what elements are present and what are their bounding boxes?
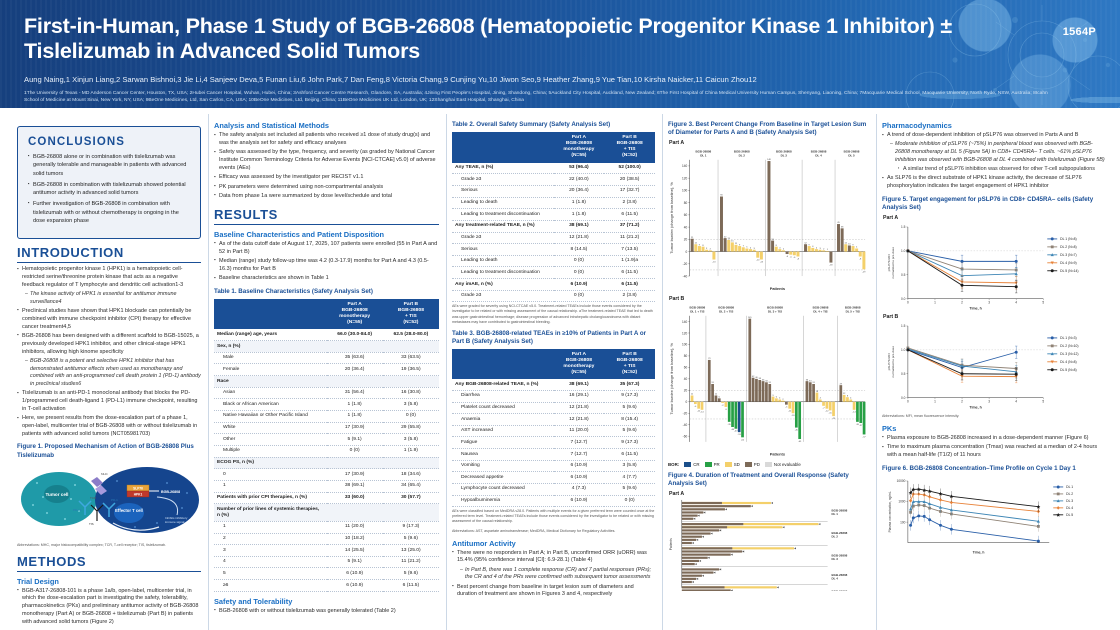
pks-list: Plasma exposure to BGB-26808 increased i…	[882, 435, 1105, 460]
svg-text:DL 5: DL 5	[848, 153, 855, 157]
table-cell-label: Vomiting	[452, 460, 554, 472]
table-cell-part-b	[383, 341, 439, 353]
svg-text:60: 60	[684, 366, 688, 370]
table-cell-part-a: 12 (21.8)	[554, 402, 605, 414]
svg-text:100: 100	[682, 343, 687, 347]
figure3-legend: BOR: CR PR SD PD Not evaluable	[668, 462, 869, 467]
svg-text:DL 3 (N=7): DL 3 (N=7)	[1060, 253, 1076, 257]
svg-text:-57: -57	[863, 436, 867, 438]
table-cell-part-a: 38 (69.1)	[554, 220, 605, 232]
table-row: Leading to death0 (0)1 (1.9)a	[452, 255, 655, 267]
table-cell-part-b: 34 (65.4)	[383, 481, 439, 493]
legend-swatch	[745, 462, 752, 467]
table-cell-part-a: 12 (21.8)	[554, 414, 605, 426]
table-cell-part-a: 12 (21.8)	[554, 232, 605, 244]
table-cell-label: Nausea	[452, 449, 554, 461]
col-a-line3: monotherapy	[339, 314, 370, 319]
waterfall-part-a-svg: Tumor burden (change from baseline), %-4…	[668, 146, 869, 294]
figure1-title: Figure 1. Proposed Mechanism of Action o…	[17, 443, 201, 459]
table-cell-part-a: 1 (1.8)	[327, 399, 383, 411]
table-cell-part-a: 14 (25.5)	[327, 545, 383, 557]
svg-text:DL 4: DL 4	[832, 576, 839, 580]
table-row: Native Hawaiian or Other Pacific Island1…	[214, 411, 439, 423]
table-header-row: Part ABGB-26808 monotherapy(N=55) Part B…	[452, 132, 655, 163]
table-cell-part-b: 3 (5.8)	[383, 434, 439, 446]
legend-label: SD	[734, 462, 740, 467]
table-cell-part-a: 22 (40.0)	[554, 174, 605, 186]
legend-item-sd: SD	[725, 462, 740, 467]
legend-item-pr: PR	[705, 462, 720, 467]
table-cell-label: Grade ≥3	[452, 290, 554, 302]
table-row: Median (range) age, years66.0 (30.0-84.0…	[214, 329, 439, 340]
antitumor-list: There were no responders in Part A; in P…	[452, 550, 655, 600]
list-item: As of the data cutoff date of August 17,…	[214, 241, 439, 257]
svg-text:Tumor burden (change from base: Tumor burden (change from baseline), %	[669, 342, 674, 414]
svg-text:31: 31	[711, 382, 714, 384]
table-row: ≥66 (10.9)6 (11.5)	[214, 580, 439, 592]
table-cell-part-b: 19 (36.5)	[383, 364, 439, 376]
table-cell-part-a: 1 (1.8)	[554, 209, 605, 221]
svg-text:11: 11	[691, 394, 694, 396]
svg-text:3: 3	[988, 300, 990, 304]
svg-text:DL 5 (N=8): DL 5 (N=8)	[1060, 368, 1076, 372]
svg-text:DL 4 (N=8): DL 4 (N=8)	[1060, 360, 1076, 364]
table-cell-part-a: 53 (96.4)	[554, 163, 605, 174]
figure1-mechanism-diagram: Tumor cell Effector T cell	[17, 463, 201, 541]
svg-text:1: 1	[934, 400, 936, 404]
table-row: ECOG PS, n (%)	[214, 457, 439, 469]
table-cell-label: Any imAE, n (%)	[452, 279, 554, 291]
svg-text:3: 3	[819, 248, 821, 250]
table-cell-part-a: 7 (12.7)	[554, 449, 605, 461]
table-cell-part-a: 6 (10.9)	[554, 460, 605, 472]
table-cell-part-b: 6 (11.5)	[604, 449, 655, 461]
table-cell-label: Anaemia	[452, 414, 554, 426]
table-cell-label: Grade ≥3	[452, 232, 554, 244]
legend-label: PD	[754, 462, 760, 467]
table-cell-part-a: 38 (69.1)	[554, 379, 605, 390]
table-row: 111 (20.0)9 (17.3)	[214, 521, 439, 533]
pdl1-label: PD-L1	[73, 508, 82, 512]
poster-root: First-in-Human, Phase 1 Study of BGB-268…	[0, 0, 1120, 630]
table-cell-part-b: 3 (5.8)	[604, 460, 655, 472]
table-cell-part-b: 8 (15.4)	[604, 414, 655, 426]
table-cell-part-b	[383, 457, 439, 469]
svg-text:BGB-26808: BGB-26808	[832, 589, 848, 591]
table-row: Grade ≥312 (21.8)11 (21.2)	[452, 232, 655, 244]
table-row: Patients with prior CPI therapies, n (%)…	[214, 492, 439, 504]
table-row: Any imAE, n (%)6 (10.9)6 (11.5)	[452, 279, 655, 291]
mechanism-svg: Tumor cell Effector T cell	[17, 463, 203, 539]
svg-text:4: 4	[1015, 300, 1017, 304]
svg-text:90: 90	[720, 195, 723, 197]
svg-text:DL 3: DL 3	[781, 153, 788, 157]
table-cell-label: 5	[214, 568, 327, 580]
figure3-part-a-chart: Tumor burden (change from baseline), %-4…	[668, 146, 869, 294]
svg-text:DL 2: DL 2	[739, 153, 746, 157]
table-cell-part-b: 0 (0)	[383, 411, 439, 423]
table-row: White17 (30.9)29 (55.8)	[214, 422, 439, 434]
list-item: Tislelizumab is an anti-PD-1 monoclonal …	[17, 390, 201, 413]
svg-text:5: 5	[1042, 400, 1044, 404]
list-item: BGB-A317-26808-101 is a phase 1a/b, open…	[17, 588, 201, 627]
svg-text:DL 5 (N=14): DL 5 (N=14)	[1060, 269, 1078, 273]
svg-text:140: 140	[682, 164, 687, 168]
svg-text:-12: -12	[788, 411, 792, 413]
table-cell-label: Leading to treatment discontinuation	[452, 209, 554, 221]
table-cell-label: AST increased	[452, 425, 554, 437]
table-cell-part-b: 5 (9.6)	[383, 533, 439, 545]
col-b-line2: BGB-26808	[398, 308, 424, 313]
list-item-text: Hematopoietic progenitor kinase 1 (HPK1)…	[22, 266, 183, 288]
table-cell-part-b: 9 (17.3)	[604, 437, 655, 449]
table-cell-part-a: 0 (0)	[327, 446, 383, 458]
svg-text:DL 4: DL 4	[815, 153, 822, 157]
list-item: Safety was assessed by the type, frequen…	[214, 149, 439, 172]
svg-text:9: 9	[809, 244, 811, 246]
svg-text:-20: -20	[683, 411, 688, 415]
table-row: Nausea7 (12.7)6 (11.5)	[452, 449, 655, 461]
table-cell-label: Serious	[452, 185, 554, 197]
col-b-line4: (N=52)	[403, 320, 418, 325]
svg-text:DL 2: DL 2	[1066, 492, 1073, 496]
legend-label: Not evaluable	[774, 462, 801, 467]
pk-profile-svg: 100100010000Plasma concentration, ng/mLT…	[882, 476, 1105, 556]
table-col-part-b: Part B BGB-26808 + TIS (N=52)	[383, 299, 439, 330]
svg-text:21: 21	[691, 237, 694, 239]
table-col-part-b: Part BBGB-26808 + TIS(N=52)	[604, 349, 655, 380]
svg-text:9: 9	[699, 244, 701, 246]
figure3-part-b-chart: Tumor burden (change from baseline), %-6…	[668, 302, 869, 460]
svg-text:4: 4	[820, 398, 822, 400]
table-row: AST increased11 (20.0)5 (9.6)	[452, 425, 655, 437]
table2-body: Any TEAE, n (%)53 (96.4)52 (100.0)Grade …	[452, 163, 655, 302]
svg-text:-53: -53	[738, 434, 742, 436]
svg-text:-4: -4	[786, 256, 789, 258]
table-cell-part-a: 5 (9.1)	[327, 434, 383, 446]
legend-item-cr: CR	[684, 462, 699, 467]
table-row: Platelet count decreased12 (21.8)5 (9.6)	[452, 402, 655, 414]
svg-text:-9: -9	[725, 409, 728, 411]
list-item: Time to maximum plasma concentration (Tm…	[882, 444, 1105, 460]
svg-text:DL 3 + TIS: DL 3 + TIS	[768, 309, 782, 313]
svg-text:10: 10	[848, 244, 851, 246]
figure5-part-a-chart: 0.00.51.01.5012345Time, hpSLP76 MFInorma…	[882, 221, 1105, 313]
table-row: Leading to treatment discontinuation0 (0…	[452, 267, 655, 279]
drug-label: BGB-26808	[161, 490, 180, 494]
table2-title: Table 2. Overall Safety Summary (Safety …	[452, 121, 655, 129]
poster-header: First-in-Human, Phase 1 Study of BGB-268…	[0, 0, 1120, 108]
pharmacodynamics-list: A trend of dose-dependent inhibition of …	[882, 132, 1105, 191]
list-item: BGB-26808 has been designed with a diffe…	[17, 333, 201, 389]
svg-text:-20: -20	[791, 415, 795, 417]
table-overall-safety-summary: Part ABGB-26808 monotherapy(N=55) Part B…	[452, 132, 655, 302]
analysis-list: The safety analysis set included all pat…	[214, 132, 439, 201]
table1-title: Table 1. Baseline Characteristics (Safet…	[214, 288, 439, 296]
conclusions-list: BGB-26808 alone or in combination with t…	[28, 153, 191, 225]
svg-text:DL 2 + TIS: DL 2 + TIS	[719, 309, 733, 313]
table-cell-part-b: 6 (11.5)	[383, 580, 439, 592]
svg-text:12: 12	[695, 243, 698, 245]
table-cell-part-b: 52 (100.0)	[604, 163, 655, 174]
svg-text:3: 3	[754, 248, 756, 250]
table-cell-part-a	[327, 376, 383, 388]
list-item: A trend of dose-dependent inhibition of …	[882, 132, 1105, 173]
trial-design-list: BGB-A317-26808-101 is a phase 1a/b, open…	[17, 588, 201, 627]
svg-text:DL 3: DL 3	[1066, 499, 1073, 503]
slp76-label: SLP76	[133, 486, 143, 490]
svg-text:5: 5	[746, 247, 748, 249]
table-cell-part-b: 2 (3.8)	[604, 290, 655, 302]
baseline-list: As of the data cutoff date of August 17,…	[214, 241, 439, 283]
svg-text:2: 2	[782, 399, 784, 401]
table-cell-part-a: 8 (14.5)	[554, 244, 605, 256]
table-cell-label: Asian	[214, 387, 327, 399]
t-cell-nucleus	[114, 503, 144, 523]
table-cell-label: Median (range) age, years	[214, 329, 327, 340]
table-cell-label: Decreased appetite	[452, 472, 554, 484]
svg-text:80: 80	[684, 354, 688, 358]
svg-text:2: 2	[961, 400, 963, 404]
pharmacodynamics-heading: Pharmacodynamics	[882, 121, 1105, 130]
list-item: Hematopoietic progenitor kinase 1 (HPK1)…	[17, 266, 201, 306]
svg-text:7: 7	[743, 246, 745, 248]
svg-text:DL 1: DL 1	[832, 512, 839, 516]
table-cell-part-b: 62.5 (28.0-80.0)	[383, 329, 439, 340]
svg-text:4: 4	[750, 247, 752, 249]
svg-text:-37: -37	[859, 425, 863, 427]
table-row: Leading to death1 (1.8)2 (3.8)	[452, 197, 655, 209]
list-item-text: BGB-26808 has been designed with a diffe…	[22, 333, 199, 355]
svg-text:0: 0	[685, 400, 687, 404]
analysis-heading: Analysis and Statistical Methods	[214, 121, 439, 130]
svg-text:31: 31	[769, 382, 772, 384]
mhc-label: MHC	[101, 472, 109, 476]
svg-text:60: 60	[684, 213, 688, 217]
list-item: BGB-26808 with or without tislelizumab w…	[214, 608, 439, 616]
svg-text:0: 0	[907, 300, 909, 304]
table3-title: Table 3. BGB-26808-related TEAEs in ≥10%…	[452, 330, 655, 346]
table-row: Sex, n (%)	[214, 341, 439, 353]
table3-abbreviations: Abbreviations: AST, aspartate aminotrans…	[452, 529, 655, 534]
trial-design-heading: Trial Design	[17, 577, 201, 586]
table-cell-part-a: 6 (10.9)	[554, 495, 605, 507]
svg-text:120: 120	[682, 331, 687, 335]
table-cell-label: Multiple	[214, 446, 327, 458]
svg-text:4: 4	[779, 247, 781, 249]
table-cell-label: Race	[214, 376, 327, 388]
table-cell-label: Serious	[452, 244, 554, 256]
legend-title: BOR:	[668, 462, 679, 467]
table-cell-part-b: 0 (0)	[604, 495, 655, 507]
svg-text:120: 120	[682, 177, 687, 181]
table-row: Leading to treatment discontinuation1 (1…	[452, 209, 655, 221]
table-cell-label: ECOG PS, n (%)	[214, 457, 327, 469]
table-cell-label: ≥6	[214, 580, 327, 592]
pd-part-a-svg: 0.00.51.01.5012345Time, hpSLP76 MFInorma…	[882, 221, 1105, 313]
table-cell-part-a: 11 (20.0)	[554, 425, 605, 437]
table-col-part-a: Part ABGB-26808 monotherapy(N=55)	[554, 349, 605, 380]
table-cell-label: Male	[214, 352, 327, 364]
table-cell-part-a	[327, 504, 383, 522]
svg-text:-8: -8	[797, 259, 800, 261]
svg-text:DL 1 (N=8): DL 1 (N=8)	[1060, 237, 1076, 241]
svg-text:145: 145	[748, 317, 752, 319]
table-cell-label: Patients with prior CPI therapies, n (%)	[214, 492, 327, 504]
figure5-abbreviations: Abbreviations: MFI, mean fluorescence in…	[882, 414, 1105, 419]
table-cell-label: Diarrhea	[452, 390, 554, 402]
svg-text:6: 6	[812, 246, 814, 248]
svg-text:6: 6	[776, 396, 778, 398]
table-col-part-a: Part ABGB-26808 monotherapy(N=55)	[554, 132, 605, 163]
table-cell-part-b: 16 (30.8)	[383, 387, 439, 399]
table-cell-part-b: 18 (34.6)	[383, 469, 439, 481]
table-row: 138 (69.1)34 (65.4)	[214, 481, 439, 493]
table-row: 210 (18.2)5 (9.6)	[214, 533, 439, 545]
table-row: Grade ≥30 (0)2 (3.8)	[452, 290, 655, 302]
svg-text:1000: 1000	[898, 500, 905, 504]
svg-text:Plasma concentration, ng/mL: Plasma concentration, ng/mL	[888, 491, 892, 532]
svg-text:8: 8	[847, 395, 849, 397]
table-baseline-characteristics: Part A BGB-26808 monotherapy (N=55) Part…	[214, 299, 439, 592]
svg-text:-20: -20	[683, 262, 688, 266]
svg-text:-29: -29	[862, 271, 866, 273]
table-row: Lymphocyte count decreased4 (7.3)5 (9.6)	[452, 484, 655, 496]
svg-text:DL 4 + TIS: DL 4 + TIS	[813, 309, 827, 313]
svg-text:DL 2: DL 2	[832, 534, 839, 538]
figure5-part-b-chart: 0.00.51.01.5012345Time, hpSLP76 MFInorma…	[882, 320, 1105, 412]
svg-text:normalized to pre-dose: normalized to pre-dose	[891, 247, 895, 279]
svg-text:100: 100	[682, 189, 687, 193]
table-related-teaes: Part ABGB-26808 monotherapy(N=55) Part B…	[452, 349, 655, 508]
tis-label: TIS	[89, 522, 94, 526]
list-item: Here, we present results from the dose-e…	[17, 415, 201, 438]
svg-text:-65: -65	[798, 441, 802, 443]
pd-part-b-svg: 0.00.51.01.5012345Time, hpSLP76 MFInorma…	[882, 320, 1105, 412]
svg-text:0: 0	[685, 250, 687, 254]
table-row: Other5 (9.1)3 (5.8)	[214, 434, 439, 446]
table-row: Any TEAE, n (%)53 (96.4)52 (100.0)	[452, 163, 655, 174]
table-cell-label: Any BGB-26808-related TEAE, n (%)	[452, 379, 554, 390]
svg-text:148: 148	[767, 159, 771, 161]
svg-text:Patients: Patients	[770, 452, 786, 457]
svg-text:DL 4: DL 4	[1066, 506, 1073, 510]
list-item-text: There were no responders in Part A; in P…	[457, 550, 647, 564]
table-cell-part-b: 2 (3.8)	[604, 197, 655, 209]
svg-text:Patients: Patients	[669, 538, 673, 550]
table-cell-part-a: 7 (12.7)	[554, 437, 605, 449]
column-4: Figure 3. Best Percent Change From Basel…	[662, 114, 876, 630]
table-cell-part-b: 5 (9.6)	[604, 484, 655, 496]
table-cell-part-a: 5 (9.1)	[327, 556, 383, 568]
legend-label: CR	[693, 462, 699, 467]
list-subitem: In Part B, there was 1 complete response…	[460, 567, 655, 582]
svg-text:-14: -14	[700, 412, 704, 414]
table-row: Any treatment-related TEAE, n (%)38 (69.…	[452, 220, 655, 232]
svg-text:1.5: 1.5	[901, 325, 906, 329]
svg-text:-5: -5	[785, 407, 788, 409]
table-cell-part-a: 0 (0)	[554, 255, 605, 267]
svg-text:11: 11	[715, 394, 718, 396]
svg-text:Time, h: Time, h	[969, 306, 981, 310]
svg-text:2: 2	[783, 249, 785, 251]
list-subitem: The kinase activity of HPK1 is essential…	[25, 291, 201, 306]
svg-text:0.5: 0.5	[901, 372, 906, 376]
svg-text:-13: -13	[712, 262, 716, 264]
table-cell-label: Native Hawaiian or Other Pacific Island	[214, 411, 327, 423]
table-cell-part-b: 13 (25.0)	[383, 545, 439, 557]
table-cell-label: 1	[214, 481, 327, 493]
svg-text:DL 1 (N=3): DL 1 (N=3)	[1060, 336, 1076, 340]
table1-body: Median (range) age, years66.0 (30.0-84.0…	[214, 329, 439, 591]
table-row: Any BGB-26808-related TEAE, n (%)38 (69.…	[452, 379, 655, 390]
svg-text:-18: -18	[829, 265, 833, 267]
table-cell-label: Grade ≥3	[452, 174, 554, 186]
table-cell-part-a: 35 (63.6)	[327, 352, 383, 364]
table-row: 017 (30.9)18 (34.6)	[214, 469, 439, 481]
svg-text:-62: -62	[741, 439, 745, 441]
svg-text:-40: -40	[683, 274, 688, 278]
svg-text:Time, h: Time, h	[973, 551, 985, 555]
svg-text:5: 5	[856, 247, 858, 249]
table-col-label	[214, 299, 327, 330]
table-cell-part-a: 33 (60.0)	[327, 492, 383, 504]
table-row: Anaemia12 (21.8)8 (15.4)	[452, 414, 655, 426]
table-cell-part-a: 31 (56.4)	[327, 387, 383, 399]
column-3: Table 2. Overall Safety Summary (Safety …	[446, 114, 662, 630]
table-cell-label: Leading to treatment discontinuation	[452, 267, 554, 279]
svg-text:12: 12	[843, 393, 846, 395]
svg-text:Time, h: Time, h	[969, 406, 981, 410]
svg-text:DL 5 + TIS: DL 5 + TIS	[846, 309, 860, 313]
figure6-pk-chart: 100100010000Plasma concentration, ng/mLT…	[882, 476, 1105, 556]
svg-text:4: 4	[816, 247, 818, 249]
table-cell-part-b: 1 (1.9)a	[604, 255, 655, 267]
col-b-line3: + TIS	[405, 314, 417, 319]
svg-text:4: 4	[850, 398, 852, 400]
list-item: Plasma exposure to BGB-26808 increased i…	[882, 435, 1105, 443]
table-cell-part-a: 10 (18.2)	[327, 533, 383, 545]
table-cell-label: Sex, n (%)	[214, 341, 327, 353]
svg-text:45: 45	[837, 222, 840, 224]
figure5-title: Figure 5. Target engagement for pSLP76 i…	[882, 196, 1105, 212]
svg-text:DL 1: DL 1	[1066, 485, 1073, 489]
table-cell-part-a: 6 (10.9)	[554, 472, 605, 484]
page-title: First-in-Human, Phase 1 Study of BGB-268…	[24, 14, 1024, 65]
affiliation-list: 1The University of Texas - MD Anderson C…	[24, 90, 1064, 105]
table-cell-label: Platelet count decreased	[452, 402, 554, 414]
table-cell-part-b: 6 (11.5)	[604, 209, 655, 221]
column-2: Analysis and Statistical Methods The saf…	[208, 114, 446, 630]
list-item: Best percent change from baseline in tar…	[452, 584, 655, 600]
table-header-row: Part ABGB-26808 monotherapy(N=55) Part B…	[452, 349, 655, 380]
pd1-label: PD-1	[111, 498, 118, 502]
list-item: PK parameters were determined using non-…	[214, 184, 439, 192]
table-cell-part-a: 6 (10.9)	[327, 580, 383, 592]
svg-text:DL 3: DL 3	[832, 557, 839, 561]
svg-text:8: 8	[702, 245, 704, 247]
table-cell-label: Number of prior lines of systemic therap…	[214, 504, 327, 522]
svg-text:1.0: 1.0	[901, 249, 906, 253]
introduction-list: Hematopoietic progenitor kinase 1 (HPK1)…	[17, 266, 201, 438]
svg-text:Tumor burden (change from base: Tumor burden (change from baseline), %	[669, 182, 674, 254]
svg-text:100: 100	[900, 520, 906, 524]
col-a-line2: BGB-26808	[342, 308, 368, 313]
col-a-line1: Part A	[348, 302, 362, 307]
table-col-label	[452, 132, 554, 163]
svg-text:11: 11	[735, 243, 738, 245]
table-cell-label: Hypoalbuminemia	[452, 495, 554, 507]
